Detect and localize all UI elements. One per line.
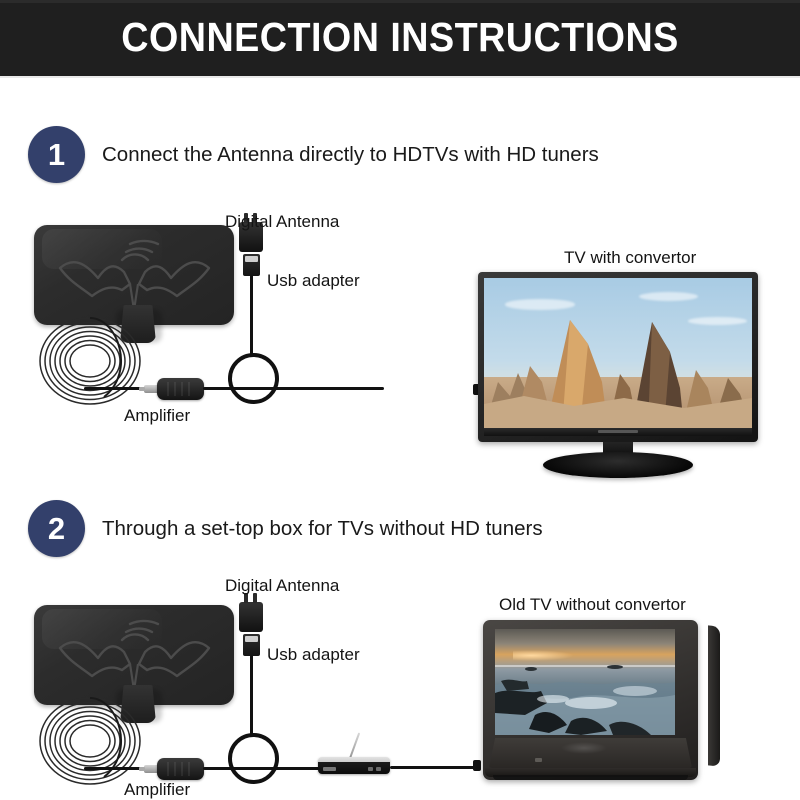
amplifier-inline-box-icon [157,758,204,780]
tv-brand-mark-2 [561,742,607,754]
amplifier-inline-box-icon [157,378,204,400]
flatscreen-tv-icon [478,272,768,482]
coiled-cable-icon [38,317,141,405]
poster-header: CONNECTION INSTRUCTIONS [0,0,800,78]
label-usb-adapter-2: Usb adapter [267,645,360,665]
label-amplifier-1: Amplifier [124,406,190,426]
label-amplifier-2: Amplifier [124,780,190,800]
tv-screen-1 [484,278,752,428]
label-old-tv-without-convertor: Old TV without convertor [499,595,686,615]
antenna-assembly-1 [24,205,384,440]
tv-screen-image-ocean [495,629,675,735]
tv-screen-2 [495,629,675,735]
tv-brand-mark-1 [598,430,638,433]
tv-screen-image-desert [484,278,752,428]
tv-base-shadow-2 [493,775,688,780]
stb-button[interactable] [368,767,373,771]
stb-button[interactable] [376,767,381,771]
step-1-row: 1 Connect the Antenna directly to HDTVs … [28,126,599,183]
label-digital-antenna-2: Digital Antenna [225,576,339,596]
tv-input-connector-2 [473,760,481,771]
step-2-text: Through a set-top box for TVs without HD… [102,517,543,541]
cable-stb-to-tv [390,766,478,769]
crt-tv-icon [483,620,713,785]
label-tv-with-convertor: TV with convertor [564,248,696,268]
set-top-box-icon [318,745,398,785]
usb-wall-adapter-icon [239,602,263,632]
instruction-poster: CONNECTION INSTRUCTIONS 1 Connect the An… [0,0,800,800]
tv-side-panel-2 [708,625,720,766]
cable-slack-loop [228,353,279,404]
step-2-badge: 2 [28,500,85,557]
antenna-wing-logo-icon [52,238,217,316]
step-1-badge: 1 [28,126,85,183]
usb-connector-icon [243,634,260,656]
page-title: CONNECTION INSTRUCTIONS [121,17,679,60]
step-1-text: Connect the Antenna directly to HDTVs wi… [102,143,599,167]
label-usb-adapter-1: Usb adapter [267,271,360,291]
coiled-cable-icon [38,697,141,785]
header-top-edge [0,0,800,3]
stb-label-mark [323,767,336,771]
usb-cable [250,275,253,357]
usb-cable [250,655,253,737]
antenna-wing-logo-icon [52,618,217,696]
usb-connector-icon [243,254,260,276]
tv-stand-base-1 [543,452,693,478]
cable-slack-loop [228,733,279,784]
tv-power-led-2 [535,758,542,762]
step-2-row: 2 Through a set-top box for TVs without … [28,500,543,557]
stb-body [318,757,390,774]
label-digital-antenna-1: Digital Antenna [225,212,339,232]
